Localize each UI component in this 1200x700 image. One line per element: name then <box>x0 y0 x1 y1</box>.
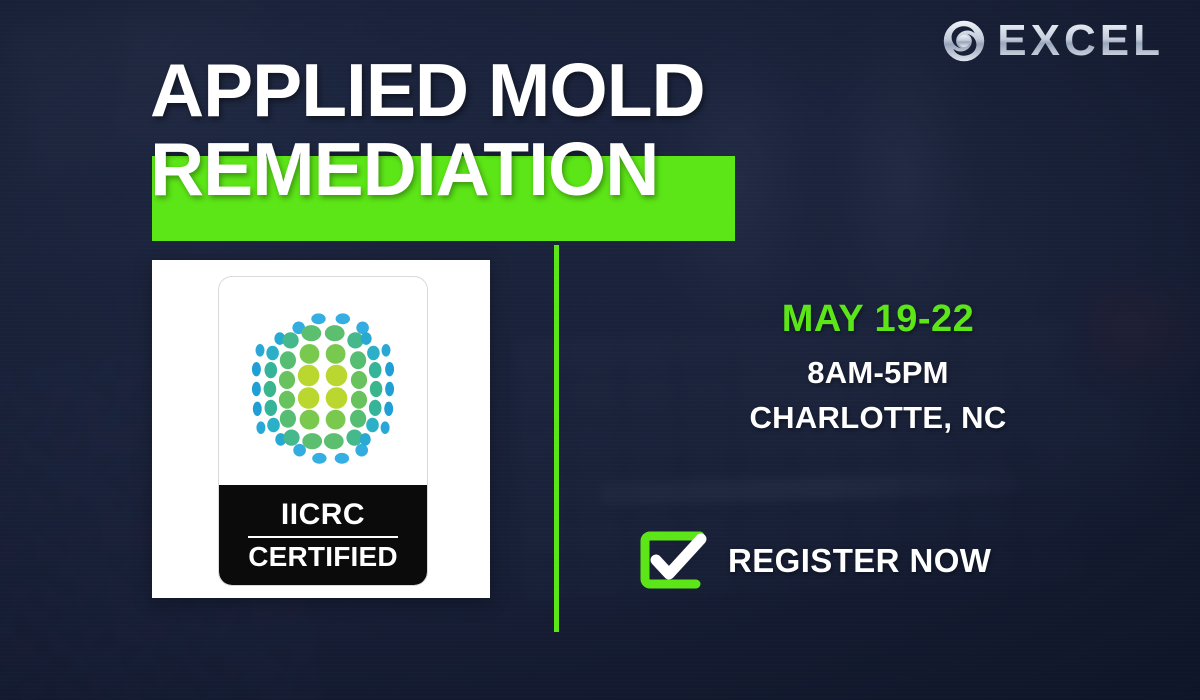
iicrc-badge-subtitle: CERTIFIED <box>248 543 398 571</box>
iicrc-badge-rule <box>248 536 398 538</box>
brand-logo: EXCEL <box>941 18 1164 64</box>
brand-name: EXCEL <box>997 19 1164 63</box>
iicrc-dotted-sphere-icon <box>233 299 413 479</box>
headline-line-1: APPLIED MOLD <box>150 54 705 126</box>
promo-poster: EXCEL APPLIED MOLD REMEDIATION <box>0 0 1200 700</box>
iicrc-certified-badge: IICRC CERTIFIED <box>219 485 427 585</box>
headline-line-2: REMEDIATION <box>150 132 658 207</box>
headline-line-2-wrapper: REMEDIATION <box>150 132 658 207</box>
checkbox-checked-icon[interactable] <box>638 527 708 593</box>
poster-content: EXCEL APPLIED MOLD REMEDIATION <box>0 0 1200 700</box>
event-time: 8AM-5PM <box>556 354 1200 391</box>
event-location: CHARLOTTE, NC <box>556 399 1200 436</box>
event-date: MAY 19-22 <box>556 298 1200 342</box>
iicrc-logo-frame: IICRC CERTIFIED <box>218 276 428 586</box>
iicrc-badge-title: IICRC <box>281 500 365 530</box>
headline: APPLIED MOLD REMEDIATION <box>150 54 705 207</box>
excel-swirl-icon <box>941 18 987 64</box>
register-now-cta[interactable]: REGISTER NOW <box>638 527 991 593</box>
register-now-label[interactable]: REGISTER NOW <box>728 544 991 577</box>
event-details: MAY 19-22 8AM-5PM CHARLOTTE, NC <box>556 298 1200 436</box>
iicrc-certification-card: IICRC CERTIFIED <box>152 260 490 598</box>
